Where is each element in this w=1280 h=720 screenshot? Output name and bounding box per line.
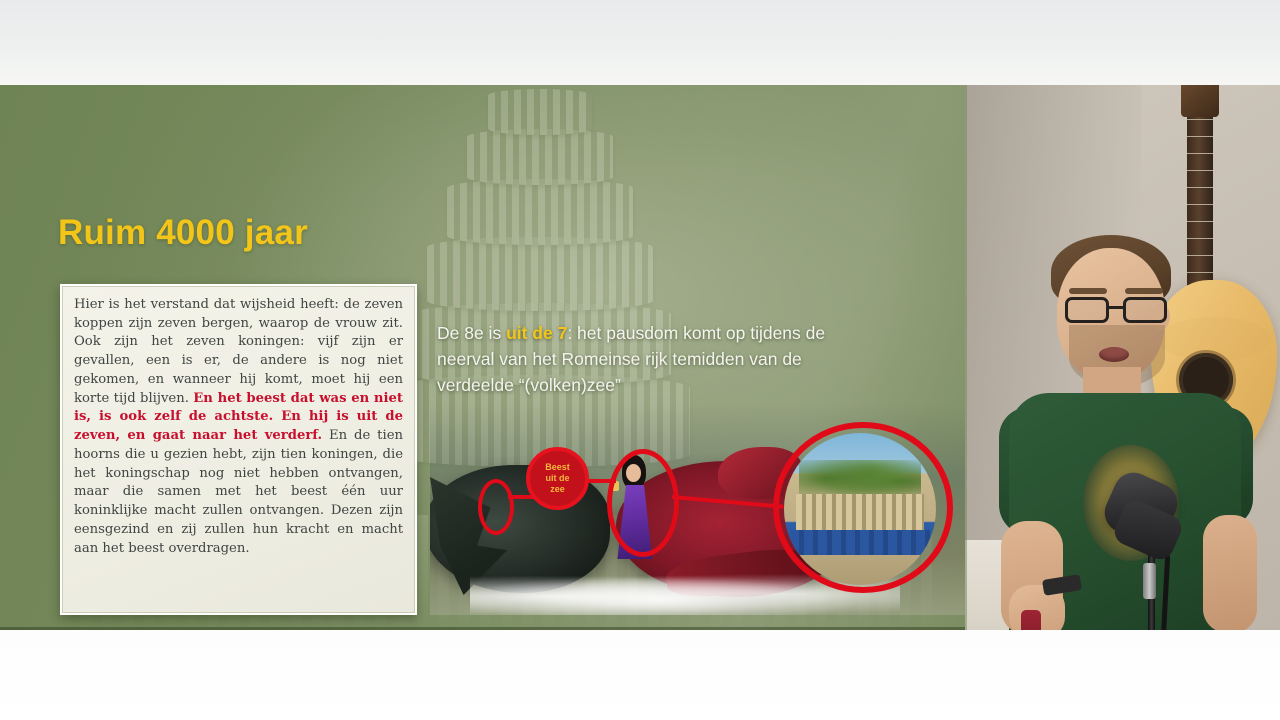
presenter-eyebrow [1069, 288, 1107, 294]
badge-line-2: uit de [545, 473, 569, 483]
video-player-stage: Ruim 4000 jaar Hier is het verstand dat … [0, 0, 1280, 720]
scripture-text: Hier is het verstand dat wijsheid heeft:… [74, 296, 403, 558]
explanation-lead: De 8e is [437, 323, 506, 343]
annotation-ring-large [773, 422, 953, 593]
letterbox-bottom [0, 630, 1280, 720]
tower-tier [447, 179, 633, 245]
glasses-lens [1065, 297, 1109, 323]
scripture-part-2: En de tien hoorns die u gezien hebt, zij… [74, 428, 403, 555]
ishtar-blue-wall [790, 530, 930, 554]
eyeglasses-icon [1065, 297, 1169, 323]
microphone-clutch [1143, 563, 1156, 599]
red-object [1021, 610, 1041, 630]
presenter-eyebrow [1125, 288, 1163, 294]
beast-from-the-sea-badge: Beest uit de zee [526, 447, 589, 510]
presenter-mouth [1099, 347, 1129, 362]
glasses-lens [1123, 297, 1167, 323]
slide-title: Ruim 4000 jaar [58, 213, 308, 253]
badge-text: Beest uit de zee [545, 462, 570, 496]
presentation-slide: Ruim 4000 jaar Hier is het verstand dat … [0, 85, 965, 630]
annotation-ring-small [478, 479, 514, 535]
annotation-ring-medium [607, 449, 679, 557]
scripture-part-1: Hier is het verstand dat wijsheid heeft:… [74, 297, 403, 406]
tower-tier [427, 237, 653, 311]
badge-line-1: Beest [545, 462, 570, 472]
badge-line-3: zee [550, 484, 565, 494]
explanation-highlight: uit de 7 [506, 323, 567, 343]
tower-tier [467, 129, 613, 185]
presenter-arm-right [1203, 515, 1257, 630]
scripture-card: Hier is het verstand dat wijsheid heeft:… [60, 284, 417, 615]
tower-tier [488, 89, 592, 135]
babylon-city-photo [784, 433, 936, 585]
presenter-webcam [965, 85, 1280, 630]
guitar-headstock [1181, 85, 1219, 117]
palace-columns [796, 494, 924, 534]
letterbox-top [0, 0, 1280, 85]
explanation-text: De 8e is uit de 7: het pausdom komt op t… [437, 321, 867, 399]
